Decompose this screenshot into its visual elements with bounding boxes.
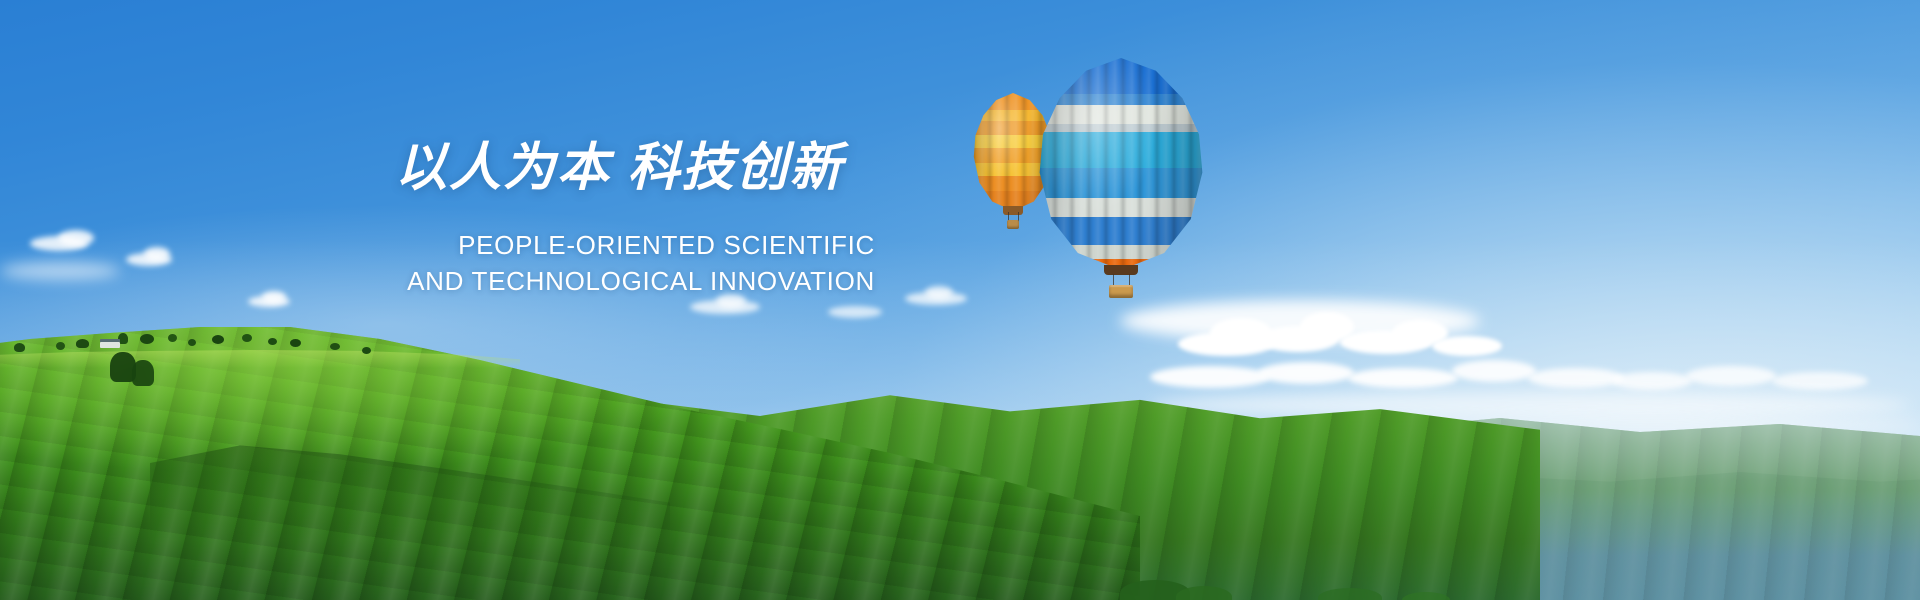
page-title: 以人为本 科技创新 [395,140,855,197]
subtitle-line-2: AND TECHNOLOGICAL INNOVATION [355,264,875,300]
banner-subtitle: PEOPLE-ORIENTED SCIENTIFIC AND TECHNOLOG… [355,228,875,300]
banner-copy: 以人为本 科技创新 PEOPLE-ORIENTED SCIENTIFIC AND… [0,0,1920,600]
subtitle-line-1: PEOPLE-ORIENTED SCIENTIFIC [355,228,875,264]
hero-banner: 以人为本 科技创新 PEOPLE-ORIENTED SCIENTIFIC AND… [0,0,1920,600]
